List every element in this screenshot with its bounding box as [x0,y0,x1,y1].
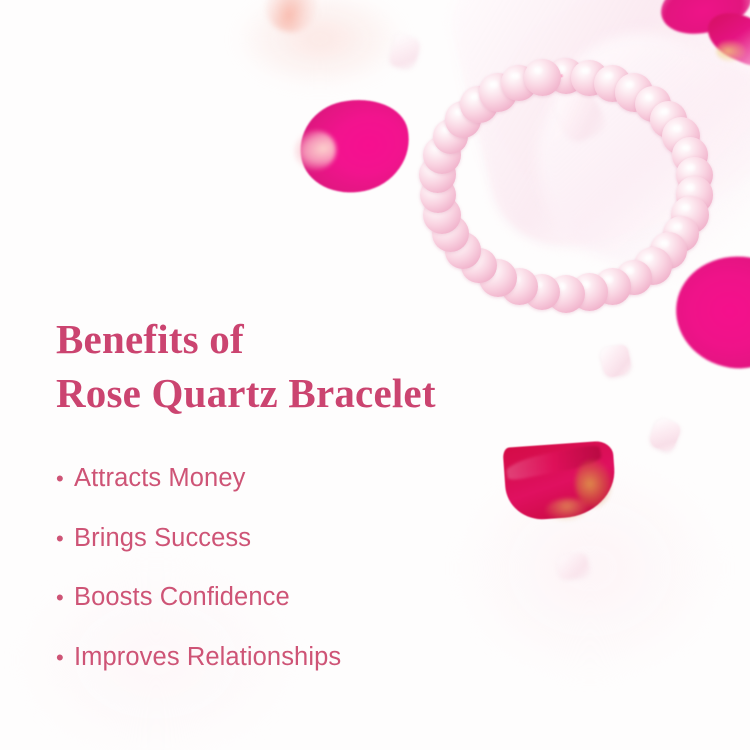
bracelet-bead [445,232,482,269]
bracelet-thread-segment [441,215,450,233]
bracelet-thread-segment [682,136,691,154]
page-title-line-2: Rose Quartz Bracelet [56,366,636,420]
bracelet-thread-segment [463,104,478,120]
bracelet-bead [571,273,609,311]
bracelet-thread-segment [436,176,439,195]
bracelet-thread-segment [500,277,518,288]
bracelet-bead [479,259,517,297]
bracelet-thread-segment [569,291,588,296]
list-item-label: Improves Relationships [74,645,341,671]
rose-quartz-chip-lower-right [647,416,682,454]
bracelet-thread-segment [682,215,691,233]
bracelet-bead [548,58,584,94]
bracelet-bead [663,216,699,252]
bracelet-bead [672,137,708,173]
list-item: • Improves Relationships [56,645,636,671]
promo-graphic-canvas: Benefits of Rose Quartz Bracelet • Attra… [0,0,750,750]
bracelet-bead [460,86,498,124]
bracelet-thread-segment [690,196,696,215]
magenta-rose-petal-upper [292,90,419,203]
list-item-label: Brings Success [74,526,251,552]
soft-pink-backdrop-wash [380,0,750,280]
bracelet-bead [419,156,456,193]
bracelet-thread-segment [545,291,564,296]
bracelet-thread-segment [450,234,462,251]
bracelet-bead [461,248,497,284]
bracelet-thread-segment [463,251,478,267]
bracelet-thread-segment [592,286,611,294]
bracelet-thread-segment [521,286,540,294]
bracelet-bead [615,73,654,112]
bracelet-bead [634,247,672,285]
bracelet-bead [662,117,700,155]
bracelet-thread-segment [441,136,450,154]
bracelet-thread-segment [690,156,696,175]
bracelet-thread-segment [480,265,497,279]
bracelet-thread-segment [545,74,564,79]
rose-quartz-chip-top [388,33,422,71]
list-item: • Brings Success [56,526,636,552]
bracelet-bead [650,101,687,138]
bracelet-thread-segment [635,265,652,279]
bracelet-thread-segment [635,91,652,105]
bullet-icon: • [56,647,74,669]
bullet-icon: • [56,468,74,490]
rose-petal-golden-tip [716,40,746,62]
bracelet-bead [501,65,537,101]
list-item-label: Boosts Confidence [74,585,290,611]
list-item: • Attracts Money [56,466,636,492]
bracelet-bead [432,215,470,253]
pale-rose-petal-top-center [260,0,324,37]
bracelet-thread-segment [450,119,462,136]
text-content-block: Benefits of Rose Quartz Bracelet • Attra… [56,312,636,670]
bracelet-bead [420,177,456,213]
bracelet-bead [501,268,538,305]
bracelet-thread-segment [670,119,682,136]
bracelet-bead [547,275,586,314]
bracelet-thread-segment [500,82,518,93]
bracelet-bead [433,119,469,155]
page-title: Benefits of Rose Quartz Bracelet [56,312,636,420]
bracelet-bead [635,86,671,122]
bracelet-bead [524,274,560,310]
bracelet-bead [594,268,631,305]
bracelet-thread-segment [615,277,633,288]
bracelet-bead [445,101,482,138]
bracelet-thread-segment [436,196,442,215]
bracelet-bead [676,157,713,194]
bracelet-bead [524,59,561,96]
list-item: • Boosts Confidence [56,585,636,611]
bullet-icon: • [56,587,74,609]
bracelet-thread-segment [592,76,611,84]
bullet-icon: • [56,528,74,550]
list-item-label: Attracts Money [74,466,245,492]
bracelet-thread-segment [436,156,442,175]
bracelet-thread-segment [670,234,682,251]
bracelet-bead [594,65,632,103]
bracelet-bead [676,176,714,214]
bracelet-thread-segment [569,74,588,79]
bracelet-bead [423,196,462,235]
benefits-list: • Attracts Money • Brings Success • Boos… [56,466,636,670]
magenta-rose-petal-right-edge [668,247,750,376]
bracelet-bead [479,73,518,112]
bracelet-thread-segment [480,91,497,105]
bracelet-bead [616,260,652,296]
bracelet-thread-segment [521,76,540,84]
bracelet-thread-segment [615,82,633,93]
bracelet-bead [671,196,710,235]
bracelet-thread-segment [654,251,669,267]
bracelet-bead [650,232,687,269]
page-title-line-1: Benefits of [56,312,636,366]
bracelet-bead [423,136,461,174]
rose-quartz-chip-behind-bracelet [552,86,608,145]
bracelet-thread-segment [694,176,697,195]
bracelet-thread-segment [654,104,669,120]
